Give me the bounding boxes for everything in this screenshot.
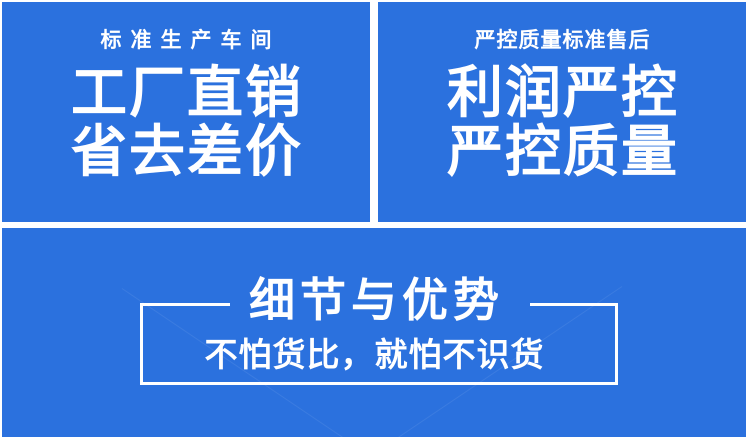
panel-factory-direct-heading-line2: 省去差价 <box>69 122 303 181</box>
panel-quality-control-heading: 利润严控 严控质量 <box>445 63 679 182</box>
panel-factory-direct-heading: 工厂直销 省去差价 <box>69 63 303 182</box>
details-advantages-tagline: 不怕货比，就怕不识货 <box>2 338 746 371</box>
promo-banner: 标准生产车间 工厂直销 省去差价 严控质量标准售后 利润严控 严控质量 细节与优… <box>0 0 750 440</box>
top-panel-row: 标准生产车间 工厂直销 省去差价 严控质量标准售后 利润严控 严控质量 <box>2 2 746 222</box>
panel-factory-direct-subtitle: 标准生产车间 <box>92 30 281 51</box>
panel-quality-control-subtitle: 严控质量标准售后 <box>474 30 651 51</box>
panel-quality-control-heading-line1: 利润严控 <box>445 63 679 122</box>
panel-details-advantages: 细节与优势 不怕货比，就怕不识货 <box>2 228 746 437</box>
panel-quality-control-heading-line2: 严控质量 <box>445 122 679 181</box>
panel-factory-direct: 标准生产车间 工厂直销 省去差价 <box>2 2 370 222</box>
panel-factory-direct-heading-line1: 工厂直销 <box>69 63 303 122</box>
details-advantages-heading: 细节与优势 <box>2 277 746 323</box>
panel-quality-control: 严控质量标准售后 利润严控 严控质量 <box>378 2 746 222</box>
